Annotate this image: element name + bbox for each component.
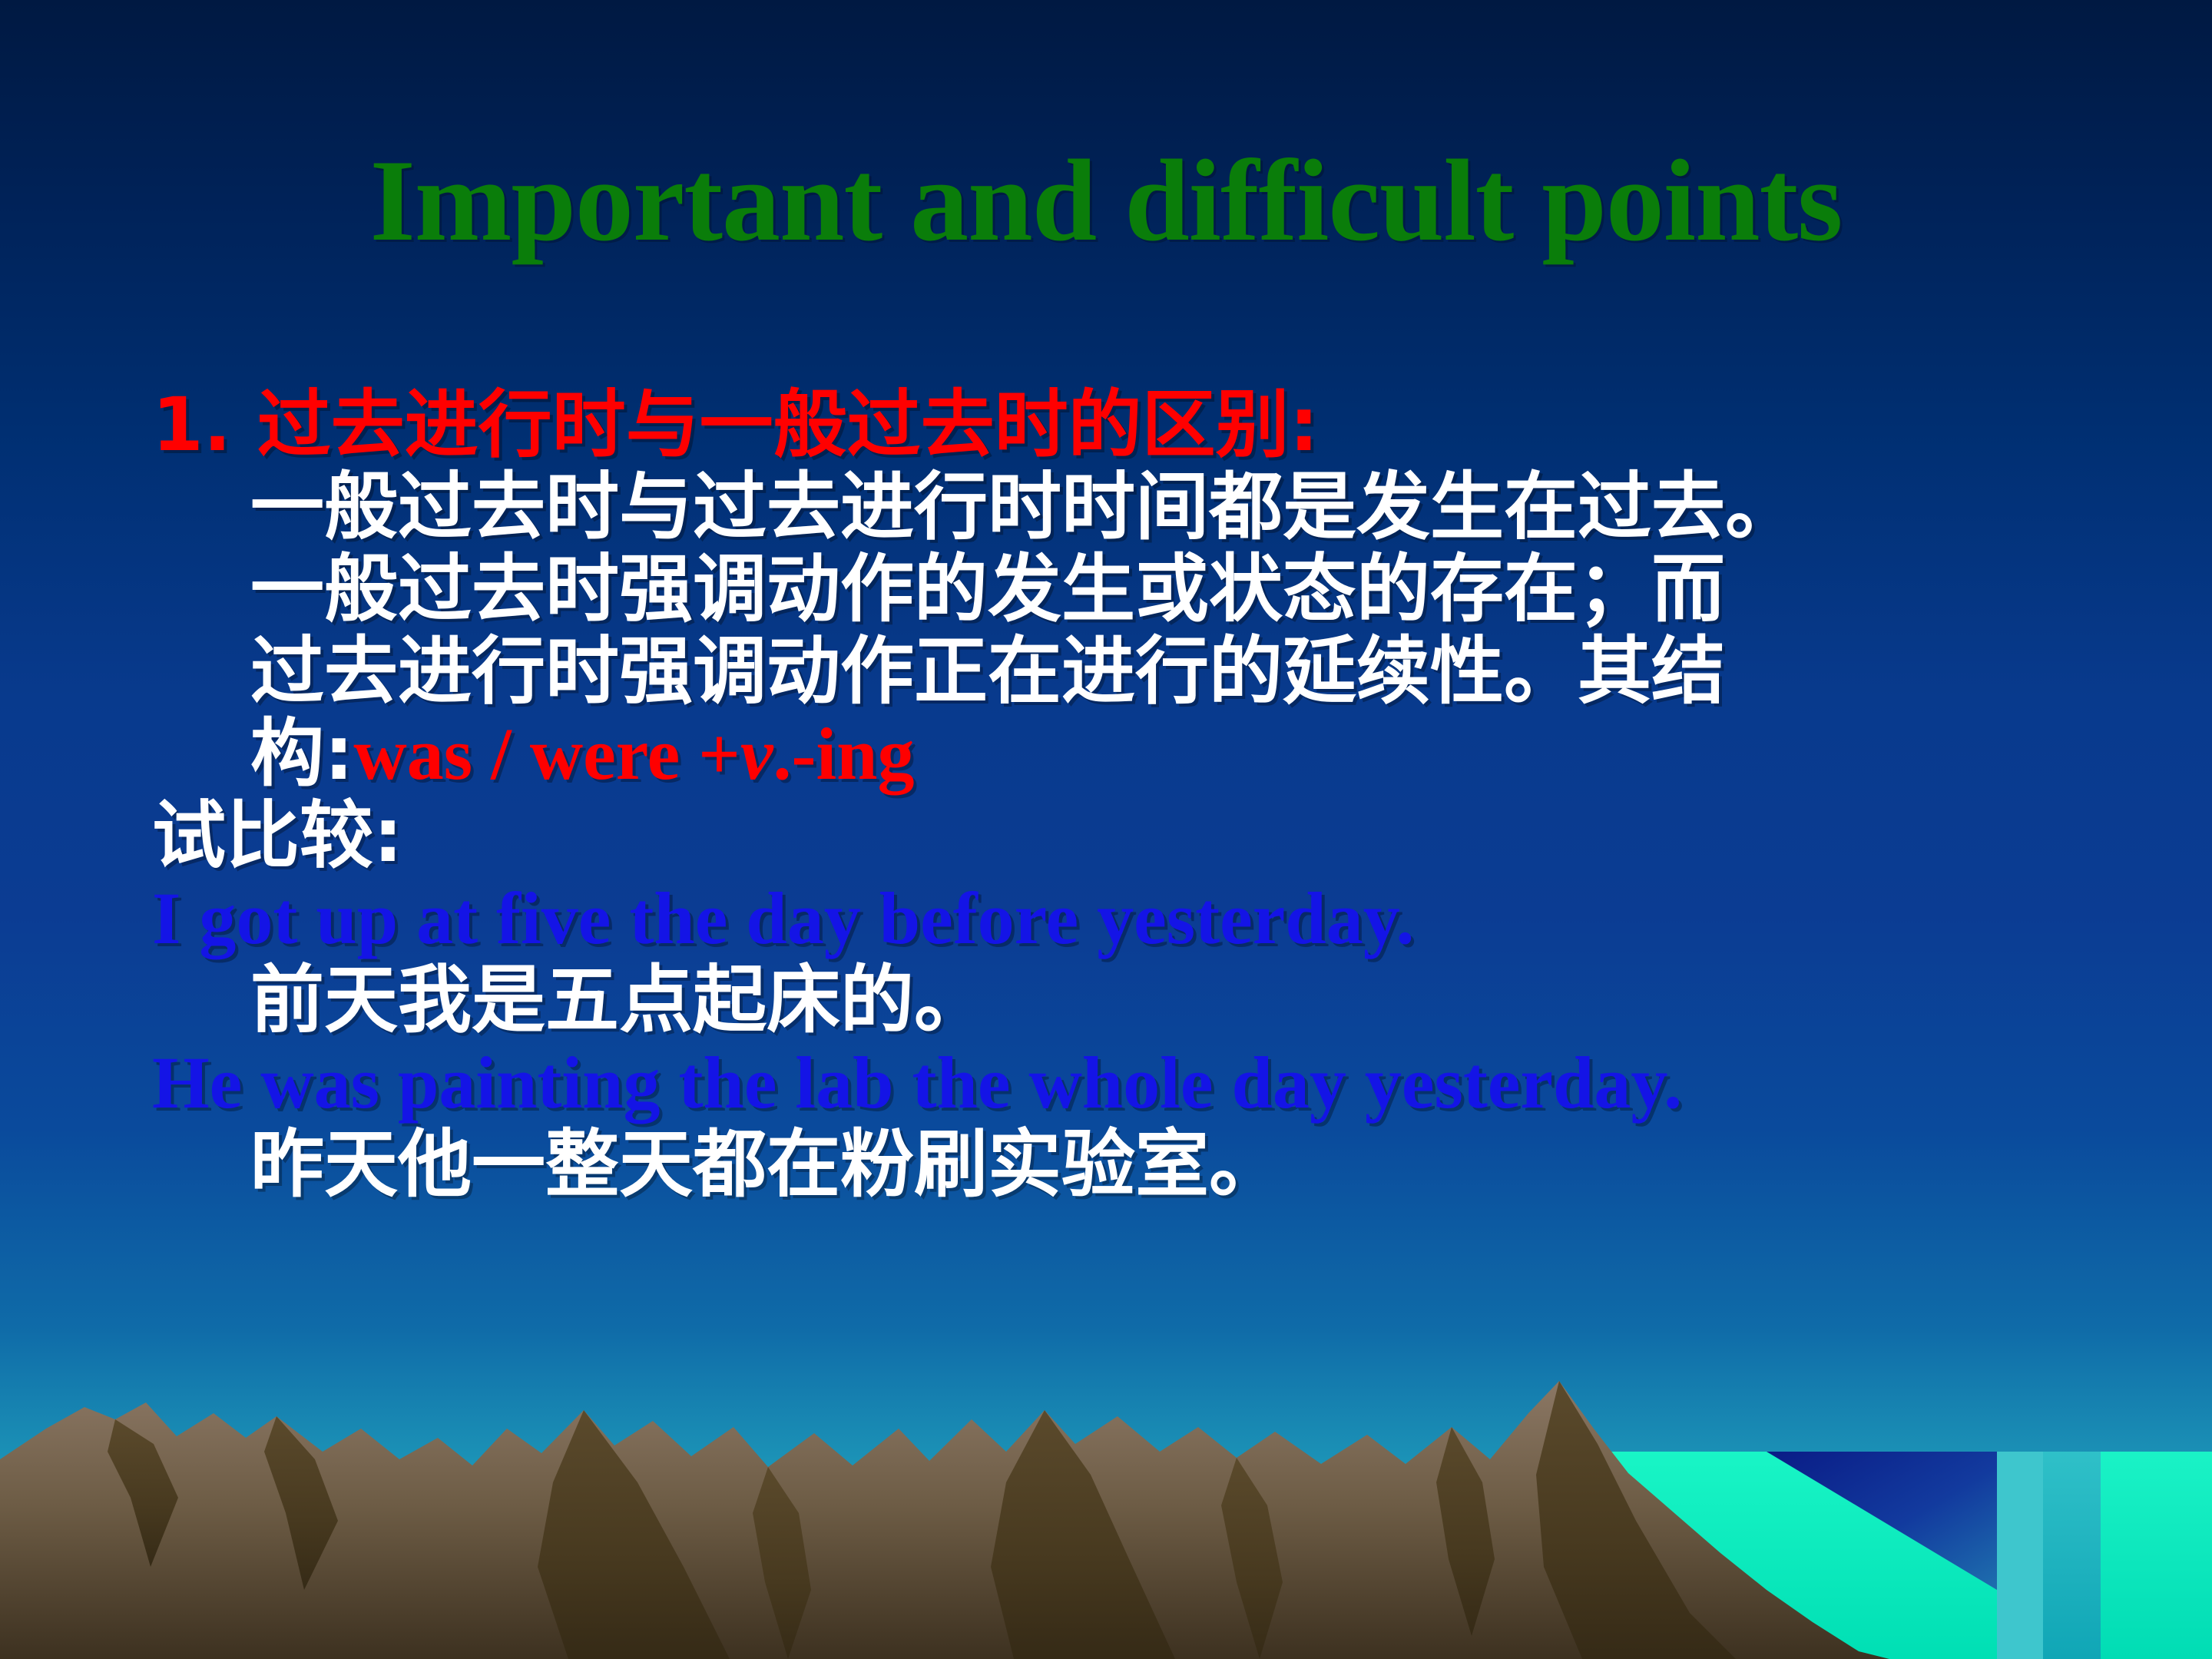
point-1-heading: 1. 过去进行时与一般过去时的区别: — [152, 384, 2149, 466]
body-line-2: 一般过去时强调动作的发生或状态的存在；而 — [152, 548, 2149, 631]
example-1-chinese: 前天我是五点起床的。 — [152, 959, 2149, 1041]
example-2-english: He was painting the lab the whole day ye… — [152, 1041, 2149, 1124]
page-title: Important and difficult points — [0, 142, 2212, 259]
example-1-english: I got up at five the day before yesterda… — [152, 877, 2149, 959]
slide-canvas: Important and difficult points 1. 过去进行时与… — [0, 0, 2212, 1659]
body-line-3: 过去进行时强调动作正在进行的延续性。其结 — [152, 631, 2149, 713]
structure-formula-prefix: was / were + — [353, 713, 740, 795]
body-text-block: 1. 过去进行时与一般过去时的区别: 一般过去时与过去进行时时间都是发生在过去。… — [152, 384, 2149, 1206]
slide-content: Important and difficult points 1. 过去进行时与… — [0, 0, 2212, 1659]
body-line-1: 一般过去时与过去进行时时间都是发生在过去。 — [152, 466, 2149, 548]
structure-formula-suffix: .-ing — [773, 713, 914, 795]
structure-label: 构: — [250, 710, 353, 796]
compare-label: 试比较: — [152, 795, 2149, 877]
structure-formula-verb: v — [740, 713, 773, 795]
body-line-4: 构:was / were +v.-ing — [152, 713, 2149, 795]
example-2-chinese: 昨天他一整天都在粉刷实验室。 — [152, 1124, 2149, 1206]
